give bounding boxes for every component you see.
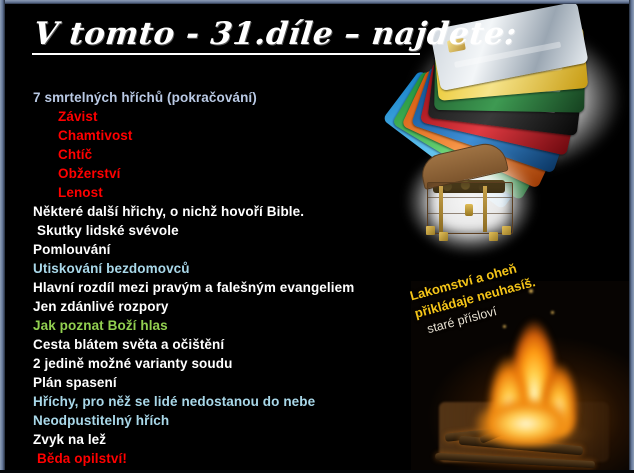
campfire-ember (551, 311, 554, 314)
list-item: Chtíč (33, 145, 393, 164)
campfire-ember (503, 325, 506, 328)
page-title: V tomto - 31.díle – najdete: (32, 18, 518, 51)
list-item: Utiskování bezdomovců (33, 259, 393, 278)
list-item: Cesta blátem světa a očištění (33, 335, 393, 354)
list-item: Hříchy, pro něž se lidé nedostanou do ne… (33, 392, 393, 411)
list-item: 2 jedině možné varianty soudu (33, 354, 393, 373)
list-item: Lenost (33, 183, 393, 202)
list-item: Pomlouvání (33, 240, 393, 259)
list-item: Některé další hřichy, o nichž hovoří Bib… (33, 202, 393, 221)
list-item: Chamtivost (33, 126, 393, 145)
slide-border-top (0, 0, 634, 4)
content-list: 7 smrtelných hříchů (pokračování)ZávistC… (33, 88, 393, 468)
list-item: 7 smrtelných hříchů (pokračování) (33, 88, 393, 107)
slide-border-left (0, 0, 5, 473)
list-item: Obžerství (33, 164, 393, 183)
list-item: Plán spasení (33, 373, 393, 392)
list-item: Jen zdánlivé rozpory (33, 297, 393, 316)
list-item: Závist (33, 107, 393, 126)
slide-title: V tomto - 31.díle – najdete: (32, 18, 515, 55)
list-item: Běda opilství! (33, 449, 393, 468)
list-item: Zvyk na lež (33, 430, 393, 449)
title-underline (32, 53, 420, 55)
list-item: Neodpustitelný hřích (33, 411, 393, 430)
treasure-chest-image (409, 152, 531, 250)
list-item: Skutky lidské svévole (33, 221, 393, 240)
chest-lock (465, 204, 473, 216)
list-item: Hlavní rozdíl mezi pravým a falešným eva… (33, 278, 393, 297)
list-item: Jak poznat Boží hlas (33, 316, 393, 335)
presentation-slide: Lakomství a oheň přikládaje neuhasíš. st… (0, 0, 634, 473)
